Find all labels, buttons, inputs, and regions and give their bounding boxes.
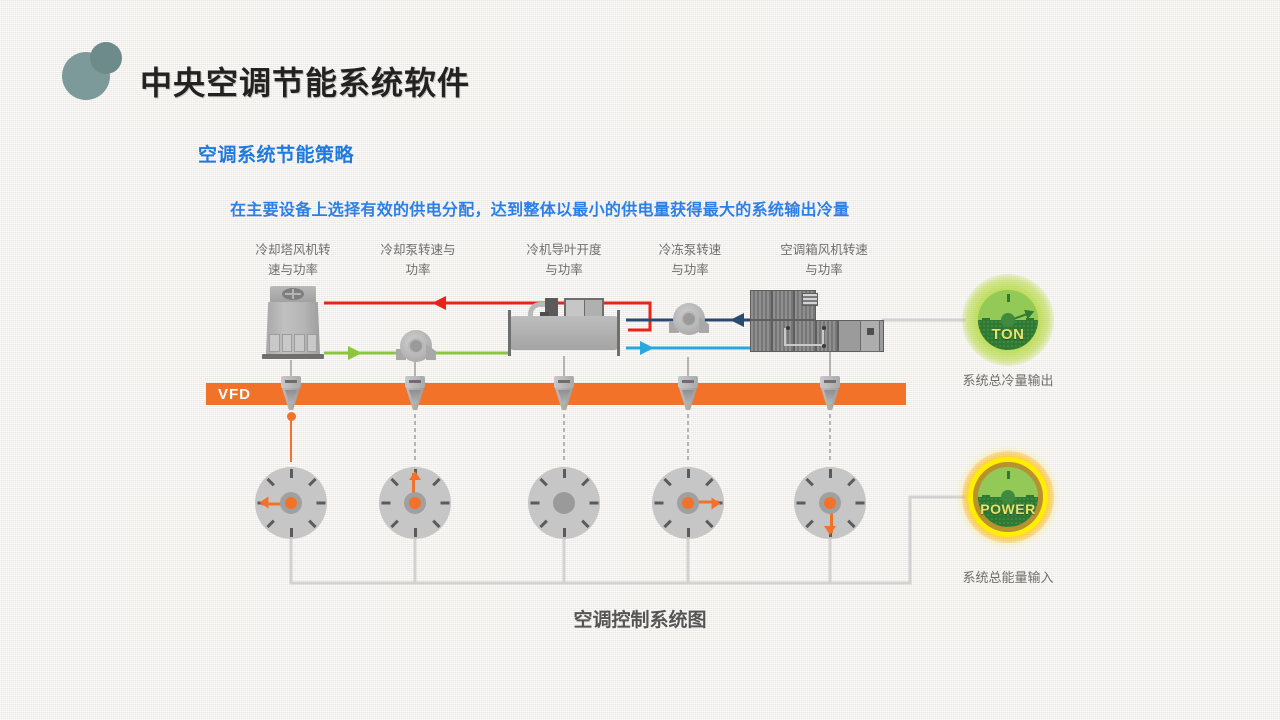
strategy-statement: 在主要设备上选择有效的供电分配，达到整体以最小的供电量获得最大的系统输出冷量 — [230, 196, 849, 220]
arrow-condenser-return — [432, 296, 446, 310]
equipment-label-line1: 冷机导叶开度 — [526, 243, 601, 257]
meter-cooling-tower[interactable] — [255, 467, 327, 539]
meter-chilled-pump[interactable] — [652, 467, 724, 539]
gauge-pivot — [1001, 313, 1015, 327]
chiller-shell — [508, 316, 620, 350]
vfd-output-node — [287, 412, 296, 421]
diagram-caption: 空调控制系统图 — [0, 605, 1280, 632]
meter-hub — [677, 492, 699, 514]
cooling-tower — [262, 286, 324, 360]
chilled-pump — [669, 303, 709, 339]
equipment-label-line1: 冷冻泵转速 — [659, 243, 722, 257]
vfd-drive-chilled-pump[interactable] — [678, 376, 698, 412]
ahu-end-box — [860, 320, 880, 352]
meter-hub — [819, 492, 841, 514]
cooling-pump — [396, 330, 436, 366]
chiller-endplate-left — [508, 310, 511, 356]
vfd-drive-chiller[interactable] — [554, 376, 574, 412]
ahu-louver-icon — [802, 293, 818, 306]
equipment-label-line2: 与功率 — [757, 260, 891, 280]
ahu-port-dot — [786, 326, 790, 330]
pump-hub — [408, 338, 424, 354]
fan-icon — [282, 288, 304, 300]
equipment-label-chiller: 冷机导叶开度 与功率 — [504, 240, 624, 280]
cooling-tower-louvers — [269, 334, 317, 352]
arrow-condenser-supply — [348, 346, 362, 360]
meter-hub — [280, 492, 302, 514]
equipment-label-line2: 功率 — [358, 260, 478, 280]
ton-gauge-text: TON — [962, 326, 1054, 343]
arrow-chilled-return — [730, 313, 744, 327]
equipment-label-line1: 冷却塔风机转 — [255, 243, 330, 257]
equipment-label-ahu: 空调箱风机转速 与功率 — [757, 240, 891, 280]
cooling-tower-base — [262, 354, 324, 359]
gauge-mark-top — [1007, 471, 1010, 479]
equipment-label-line2: 速与功率 — [233, 260, 353, 280]
equipment-label-cooling-pump: 冷却泵转速与 功率 — [358, 240, 478, 280]
equipment-label-line1: 冷却泵转速与 — [380, 243, 455, 257]
vfd-drive-ahu[interactable] — [820, 376, 840, 412]
vfd-drive-cooling-tower[interactable] — [281, 376, 301, 412]
vfd-drive-body — [555, 388, 573, 410]
ahu-cell — [772, 290, 794, 320]
gauge-mark-top — [1007, 294, 1010, 302]
vfd-drive-head — [405, 376, 425, 388]
air-handling-unit — [750, 290, 880, 352]
ton-gauge[interactable]: TON — [962, 274, 1054, 366]
vfd-drive-cooling-pump[interactable] — [405, 376, 425, 412]
ton-gauge-caption: 系统总冷量输出 — [928, 370, 1088, 389]
ahu-coil-piping — [784, 328, 824, 346]
page-title: 中央空调节能系统软件 — [140, 58, 470, 104]
equipment-label-cooling-tower: 冷却塔风机转 速与功率 — [233, 240, 353, 280]
section-heading: 空调系统节能策略 — [198, 140, 354, 167]
ahu-end-box-vent — [867, 328, 874, 335]
power-gauge-face — [978, 467, 1038, 527]
pump-hub — [681, 311, 697, 327]
ahu-port-dot — [822, 326, 826, 330]
equipment-label-line2: 与功率 — [504, 260, 624, 280]
meter-hub — [404, 492, 426, 514]
gauge-mark-right — [1026, 495, 1034, 498]
gauge-mark-left — [982, 318, 990, 321]
ahu-cell — [750, 320, 772, 352]
vfd-drive-head — [678, 376, 698, 388]
equipment-label-line2: 与功率 — [630, 260, 750, 280]
gauge-mark-left — [982, 495, 990, 498]
vfd-drive-head — [820, 376, 840, 388]
vfd-drive-body — [679, 388, 697, 410]
equipment-label-line1: 空调箱风机转速 — [780, 243, 868, 257]
logo-circle-small — [90, 42, 122, 74]
brand-logo — [62, 42, 120, 100]
meter-ahu-fan[interactable] — [794, 467, 866, 539]
ahu-cell — [750, 290, 772, 320]
vfd-drive-body — [821, 388, 839, 410]
power-gauge[interactable]: POWER — [962, 451, 1054, 543]
meter-chiller[interactable] — [528, 467, 600, 539]
arrow-chilled-supply — [640, 341, 654, 355]
vfd-drive-head — [554, 376, 574, 388]
chiller-endplate-right — [617, 310, 620, 356]
vfd-drive-head — [281, 376, 301, 388]
equipment-label-chilled-pump: 冷冻泵转速 与功率 — [630, 240, 750, 280]
meter-cooling-pump[interactable] — [379, 467, 451, 539]
vfd-label: VFD — [218, 386, 251, 403]
power-gauge-caption: 系统总能量输入 — [928, 567, 1088, 586]
vfd-drive-body — [406, 388, 424, 410]
power-gauge-text: POWER — [962, 501, 1054, 517]
chiller-unit — [502, 296, 626, 356]
vfd-drive-body — [282, 388, 300, 410]
meter-hub — [553, 492, 575, 514]
ahu-port-dot — [822, 344, 826, 348]
